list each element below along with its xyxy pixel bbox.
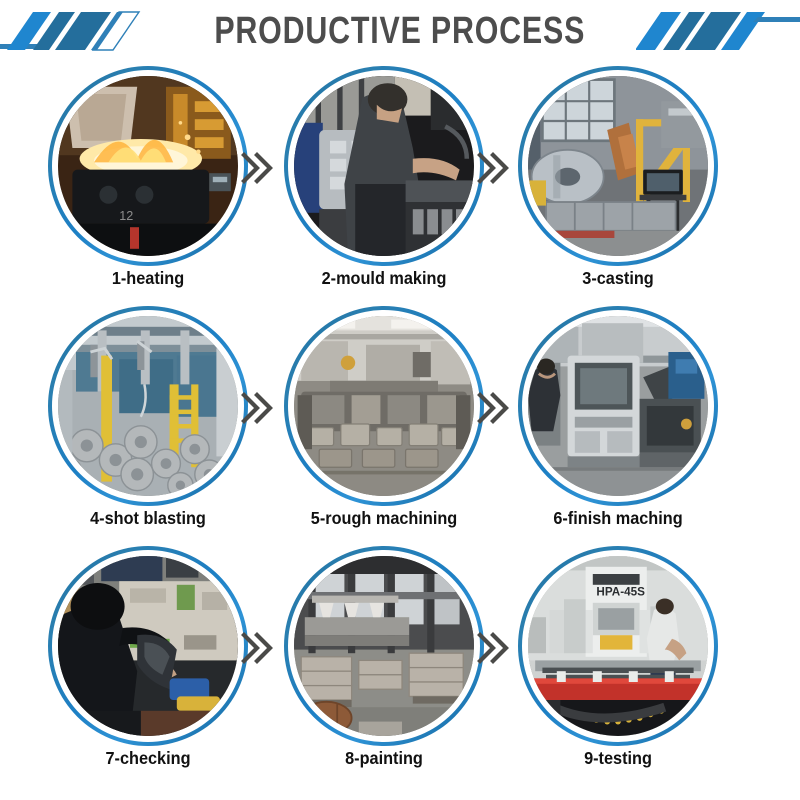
process-step-9[interactable]: HPA-45S	[500, 542, 736, 782]
step-label: 9-testing	[508, 748, 727, 769]
finish-machining-photo[interactable]	[528, 316, 708, 496]
process-step-2[interactable]: 2-mould making	[266, 62, 502, 302]
step-circle[interactable]	[284, 66, 484, 266]
svg-text:12: 12	[119, 209, 133, 223]
step-label: 4-shot blasting	[38, 508, 257, 529]
step-label: 3-casting	[508, 268, 727, 289]
process-step-7[interactable]: 7-checking	[30, 542, 266, 782]
process-grid: 12 1-heating	[0, 62, 800, 800]
process-step-1[interactable]: 12 1-heating	[30, 62, 266, 302]
casting-photo[interactable]	[528, 76, 708, 256]
svg-text:HPA-45S: HPA-45S	[596, 586, 645, 599]
shot-blasting-photo[interactable]	[58, 316, 238, 496]
checking-photo[interactable]	[58, 556, 238, 736]
step-circle[interactable]	[284, 306, 484, 506]
step-label: 5-rough machining	[274, 508, 493, 529]
step-circle[interactable]	[518, 306, 718, 506]
page-title: PRODUCTIVE PROCESS	[211, 12, 588, 50]
process-row: 4-shot blasting	[0, 302, 800, 542]
process-step-8[interactable]: 8-painting	[266, 542, 502, 782]
step-label: 2-mould making	[274, 268, 493, 289]
header-left-decoration	[0, 8, 164, 54]
step-circle[interactable]: HPA-45S	[518, 546, 718, 746]
step-circle[interactable]	[518, 66, 718, 266]
step-circle[interactable]	[284, 546, 484, 746]
header-right-decoration	[636, 8, 800, 54]
process-row: 7-checking	[0, 542, 800, 782]
process-step-3[interactable]: 3-casting	[500, 62, 736, 302]
testing-photo[interactable]: HPA-45S	[528, 556, 708, 736]
step-label: 1-heating	[38, 268, 257, 289]
heating-furnace-photo[interactable]: 12	[58, 76, 238, 256]
step-label: 8-painting	[274, 748, 493, 769]
step-label: 7-checking	[38, 748, 257, 769]
painting-photo[interactable]	[294, 556, 474, 736]
step-circle[interactable]: 12	[48, 66, 248, 266]
process-step-4[interactable]: 4-shot blasting	[30, 302, 266, 542]
step-circle[interactable]	[48, 546, 248, 746]
step-label: 6-finish maching	[508, 508, 727, 529]
process-step-5[interactable]: 5-rough machining	[266, 302, 502, 542]
rough-machining-photo[interactable]	[294, 316, 474, 496]
process-step-6[interactable]: 6-finish maching	[500, 302, 736, 542]
process-row: 12 1-heating	[0, 62, 800, 302]
mould-making-photo[interactable]	[294, 76, 474, 256]
step-circle[interactable]	[48, 306, 248, 506]
page-header: PRODUCTIVE PROCESS	[0, 0, 800, 62]
